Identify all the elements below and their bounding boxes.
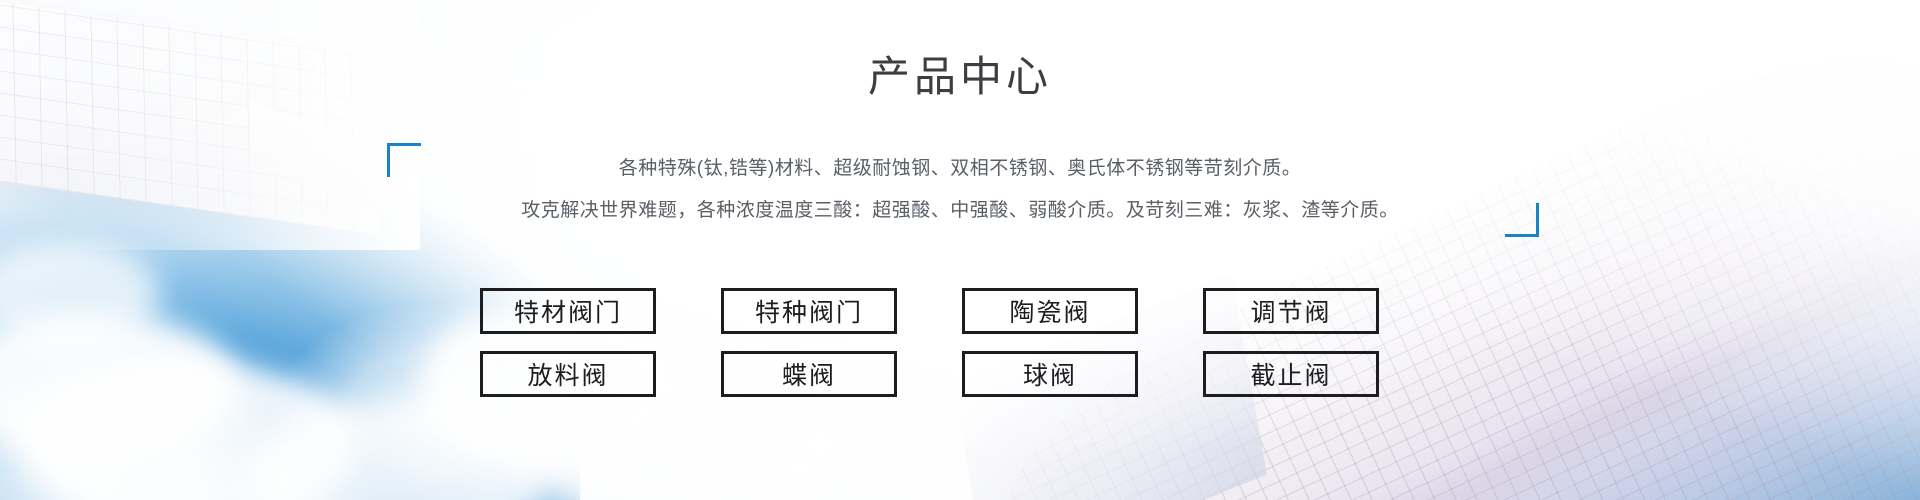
category-button-ball-valve[interactable]: 球阀 [962,351,1138,397]
category-button-special-valve[interactable]: 特种阀门 [721,288,897,334]
page-title: 产品中心 [0,52,1920,102]
category-button-control-valve[interactable]: 调节阀 [1203,288,1379,334]
description-line-1: 各种特殊(钛,锆等)材料、超级耐蚀钢、双相不锈钢、奥氏体不锈钢等苛刻介质。 [0,148,1920,190]
product-category-grid: 特材阀门 特种阀门 陶瓷阀 调节阀 放料阀 蝶阀 球阀 截止阀 [480,288,1440,397]
category-button-discharge-valve[interactable]: 放料阀 [480,351,656,397]
product-center-banner: 产品中心 各种特殊(钛,锆等)材料、超级耐蚀钢、双相不锈钢、奥氏体不锈钢等苛刻介… [0,0,1920,500]
category-button-globe-valve[interactable]: 截止阀 [1203,351,1379,397]
description-line-2: 攻克解决世界难题，各种浓度温度三酸：超强酸、中强酸、弱酸介质。及苛刻三难：灰浆、… [0,190,1920,232]
description-block: 各种特殊(钛,锆等)材料、超级耐蚀钢、双相不锈钢、奥氏体不锈钢等苛刻介质。 攻克… [0,148,1920,232]
category-button-techai-valve[interactable]: 特材阀门 [480,288,656,334]
category-button-ceramic-valve[interactable]: 陶瓷阀 [962,288,1138,334]
corner-bracket-bottom-right-icon [1505,203,1539,237]
category-button-butterfly-valve[interactable]: 蝶阀 [721,351,897,397]
